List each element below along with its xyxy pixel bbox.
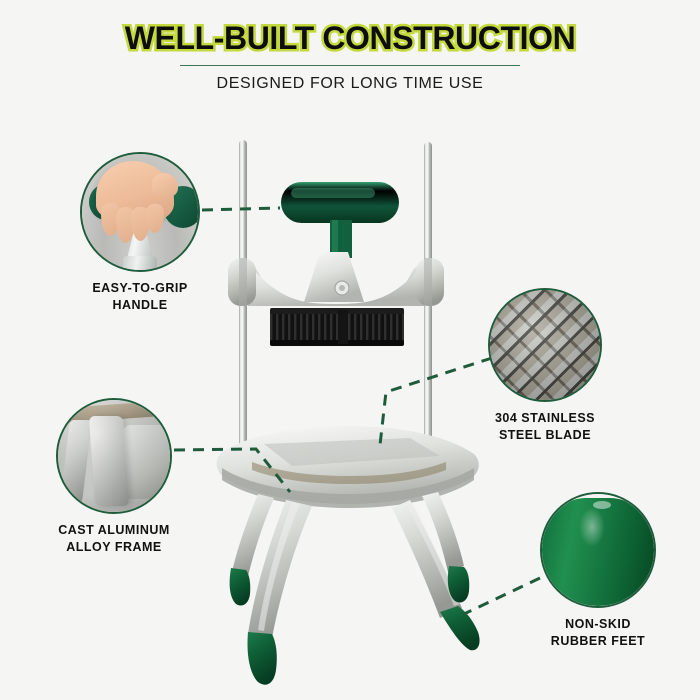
callout-blade-image (488, 288, 602, 402)
callout-handle-image (80, 152, 200, 272)
callout-frame-label: CAST ALUMINUM ALLOY FRAME (4, 522, 224, 556)
callout-frame-image (56, 398, 172, 514)
callout-handle[interactable]: EASY-TO-GRIP HANDLE (80, 152, 200, 272)
aluminum-pusher-yoke (228, 252, 451, 308)
callout-feet[interactable]: NON-SKID RUBBER FEET (540, 492, 656, 608)
callout-blade-label: 304 STAINLESS STEEL BLADE (435, 410, 655, 444)
callout-frame[interactable]: CAST ALUMINUM ALLOY FRAME (56, 398, 172, 514)
blade-inset-shading (490, 290, 600, 400)
callout-blade[interactable]: 304 STAINLESS STEEL BLADE (488, 288, 602, 402)
callout-handle-label: EASY-TO-GRIP HANDLE (30, 280, 250, 314)
callout-feet-label: NON-SKID RUBBER FEET (488, 616, 700, 650)
black-pusher-block (270, 308, 404, 346)
feet-inset-highlight (579, 507, 605, 547)
green-t-handle (281, 182, 399, 258)
handle-inset-thumb (152, 173, 178, 197)
feet-inset-rubber-foot (540, 498, 656, 608)
callout-feet-image (540, 492, 656, 608)
handle-inset-tool-base (123, 256, 157, 272)
frame-inset-shading (58, 400, 170, 512)
infographic-canvas: WELL-BUILT CONSTRUCTION DESIGNED FOR LON… (0, 0, 700, 700)
